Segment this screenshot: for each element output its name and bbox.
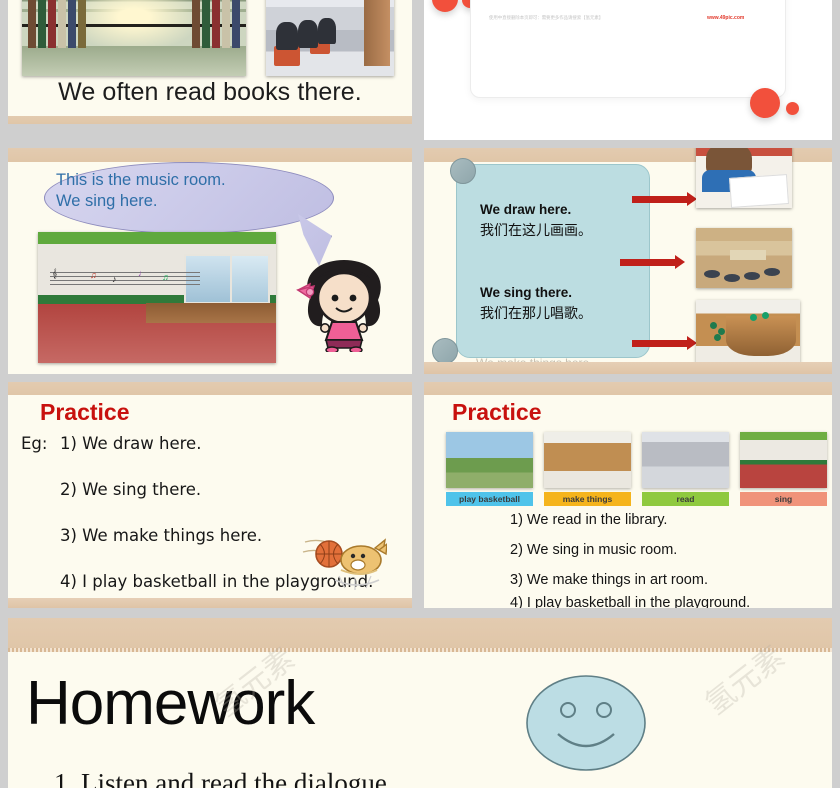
scroll-item-1-chinese: 我们在那儿唱歌。 [480,303,592,323]
basketball-cartoon [301,534,387,590]
slide-draw-sing-scroll[interactable]: We draw here. 我们在这儿画画。 We sing there. 我们… [424,148,832,374]
decor-dot [432,0,458,12]
list-item: 1) We read in the library. [510,512,667,528]
slide-homework[interactable]: Homework 氢元素 氢元素 1. Listen and read the … [8,618,832,788]
playground-basketball-photo [446,432,533,488]
slide-copyright-notice[interactable]: 律责任！否则氢元素将对作品进行授权，极极放传播下载次数来取十倍的赔偿！ 氢元素提… [424,0,832,140]
slide-practice-answers[interactable]: Practice play basketball make things rea… [424,382,832,608]
copyright-card: 律责任！否则氢元素将对作品进行授权，极极放传播下载次数来取十倍的赔偿！ 氢元素提… [470,0,786,98]
art-room-photo [696,228,792,288]
speech-bubble-text: This is the music room. We sing here. [56,170,316,212]
child-drawing-photo [696,148,792,208]
music-room-photo: 𝄞 ♫ ♪ ♩ ♬ [38,232,276,363]
decor-dot [786,102,799,115]
word-card-make-things[interactable]: make things [544,492,631,506]
scroll-curl-top-left [450,158,476,184]
scroll-curl-bottom-left [432,338,458,364]
arrow-icon [632,196,688,203]
copyright-footer: 使用中直接删除本页即可：需要更多作品请搜索【氢元素】 [489,15,679,23]
scroll-item-1-english: We sing there. [480,285,572,300]
bubble-line-2: We sing here. [56,191,316,212]
smiley-face-icon [524,674,648,772]
arrow-icon [632,340,688,347]
slide-library-caption[interactable]: We often read books there. [8,0,412,124]
scroll-item-0-english: We draw here. [480,202,571,217]
slide-music-room[interactable]: This is the music room. We sing here. 𝄞 … [8,148,412,374]
decor-dot [750,88,780,118]
list-item: 4) I play basketball in the playground. [510,595,750,608]
eg-label: Eg: [21,434,47,453]
scroll-item-0-chinese: 我们在这儿画画。 [480,220,592,240]
list-item: 2) We sing in music room. [510,542,677,558]
list-item: 2) We sing there. [60,480,201,499]
list-item: 1) We draw here. [60,434,201,453]
copyright-url[interactable]: www.49pic.com [707,15,744,21]
word-card-read[interactable]: read [642,492,729,506]
word-card-play-basketball[interactable]: play basketball [446,492,533,506]
list-item: 3) We make things here. [60,526,262,545]
bubble-line-1: This is the music room. [56,170,316,191]
homework-item-1: 1. Listen and read the dialogue. [54,768,394,788]
library-reading-photo [642,432,729,488]
library-stacks-photo [22,0,246,76]
students-reading-photo [266,0,394,76]
page-title: Practice [452,399,542,426]
page-title: Homework [26,668,314,739]
cartoon-girl [292,258,396,352]
arrow-icon [620,259,676,266]
page-title: Practice [40,399,130,426]
slide-practice-examples[interactable]: Practice Eg: 1) We draw here. 2) We sing… [8,382,412,608]
music-room-photo [740,432,827,488]
slide-deck-preview: We often read books there. 律责任！否则氢元素将对作品… [0,0,840,788]
word-card-sing[interactable]: sing [740,492,827,506]
slide1-caption: We often read books there. [8,78,412,107]
list-item: 3) We make things in art room. [510,572,708,588]
craft-table-photo [544,432,631,488]
